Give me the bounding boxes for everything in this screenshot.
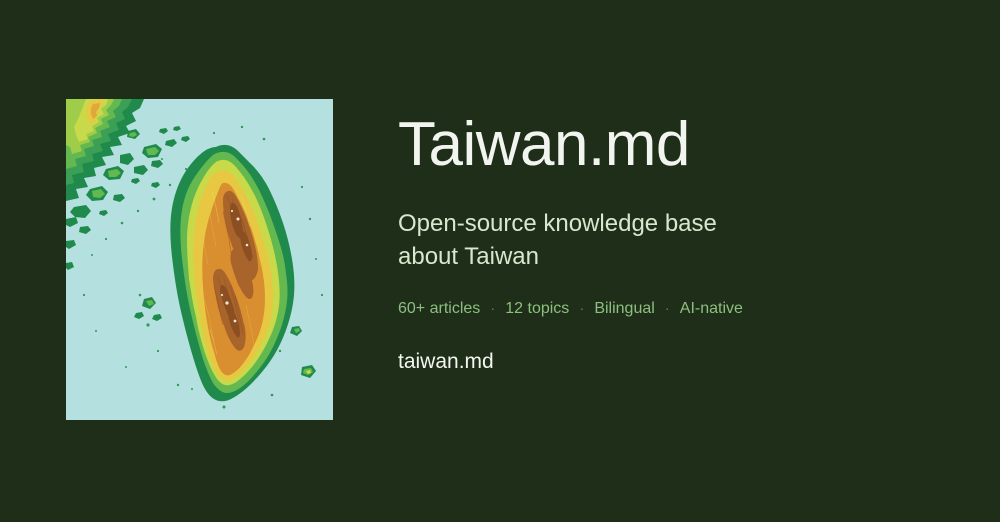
subtitle-line-1: Open-source knowledge base xyxy=(398,210,717,237)
preview-text-block: Taiwan.md Open-source knowledge base abo… xyxy=(398,112,958,374)
meta-separator-1: · xyxy=(490,300,495,318)
meta-stats-row: 60+ articles · 12 topics · Bilingual · A… xyxy=(398,299,958,318)
taiwan-topographic-relief-icon xyxy=(66,99,333,420)
meta-separator-2: · xyxy=(579,300,584,318)
meta-separator-3: · xyxy=(665,300,670,318)
meta-topics-count: 12 topics xyxy=(505,299,569,318)
meta-ai-native-tag: AI-native xyxy=(680,299,743,318)
taiwan-map-image xyxy=(66,99,333,420)
site-url[interactable]: taiwan.md xyxy=(398,349,958,374)
meta-bilingual-tag: Bilingual xyxy=(594,299,654,318)
link-preview-card: Taiwan.md Open-source knowledge base abo… xyxy=(0,0,1000,522)
subtitle-line-2: about Taiwan xyxy=(398,243,539,270)
meta-articles-count: 60+ articles xyxy=(398,299,480,318)
page-title: Taiwan.md xyxy=(398,112,958,178)
page-subtitle: Open-source knowledge base about Taiwan xyxy=(398,207,818,273)
